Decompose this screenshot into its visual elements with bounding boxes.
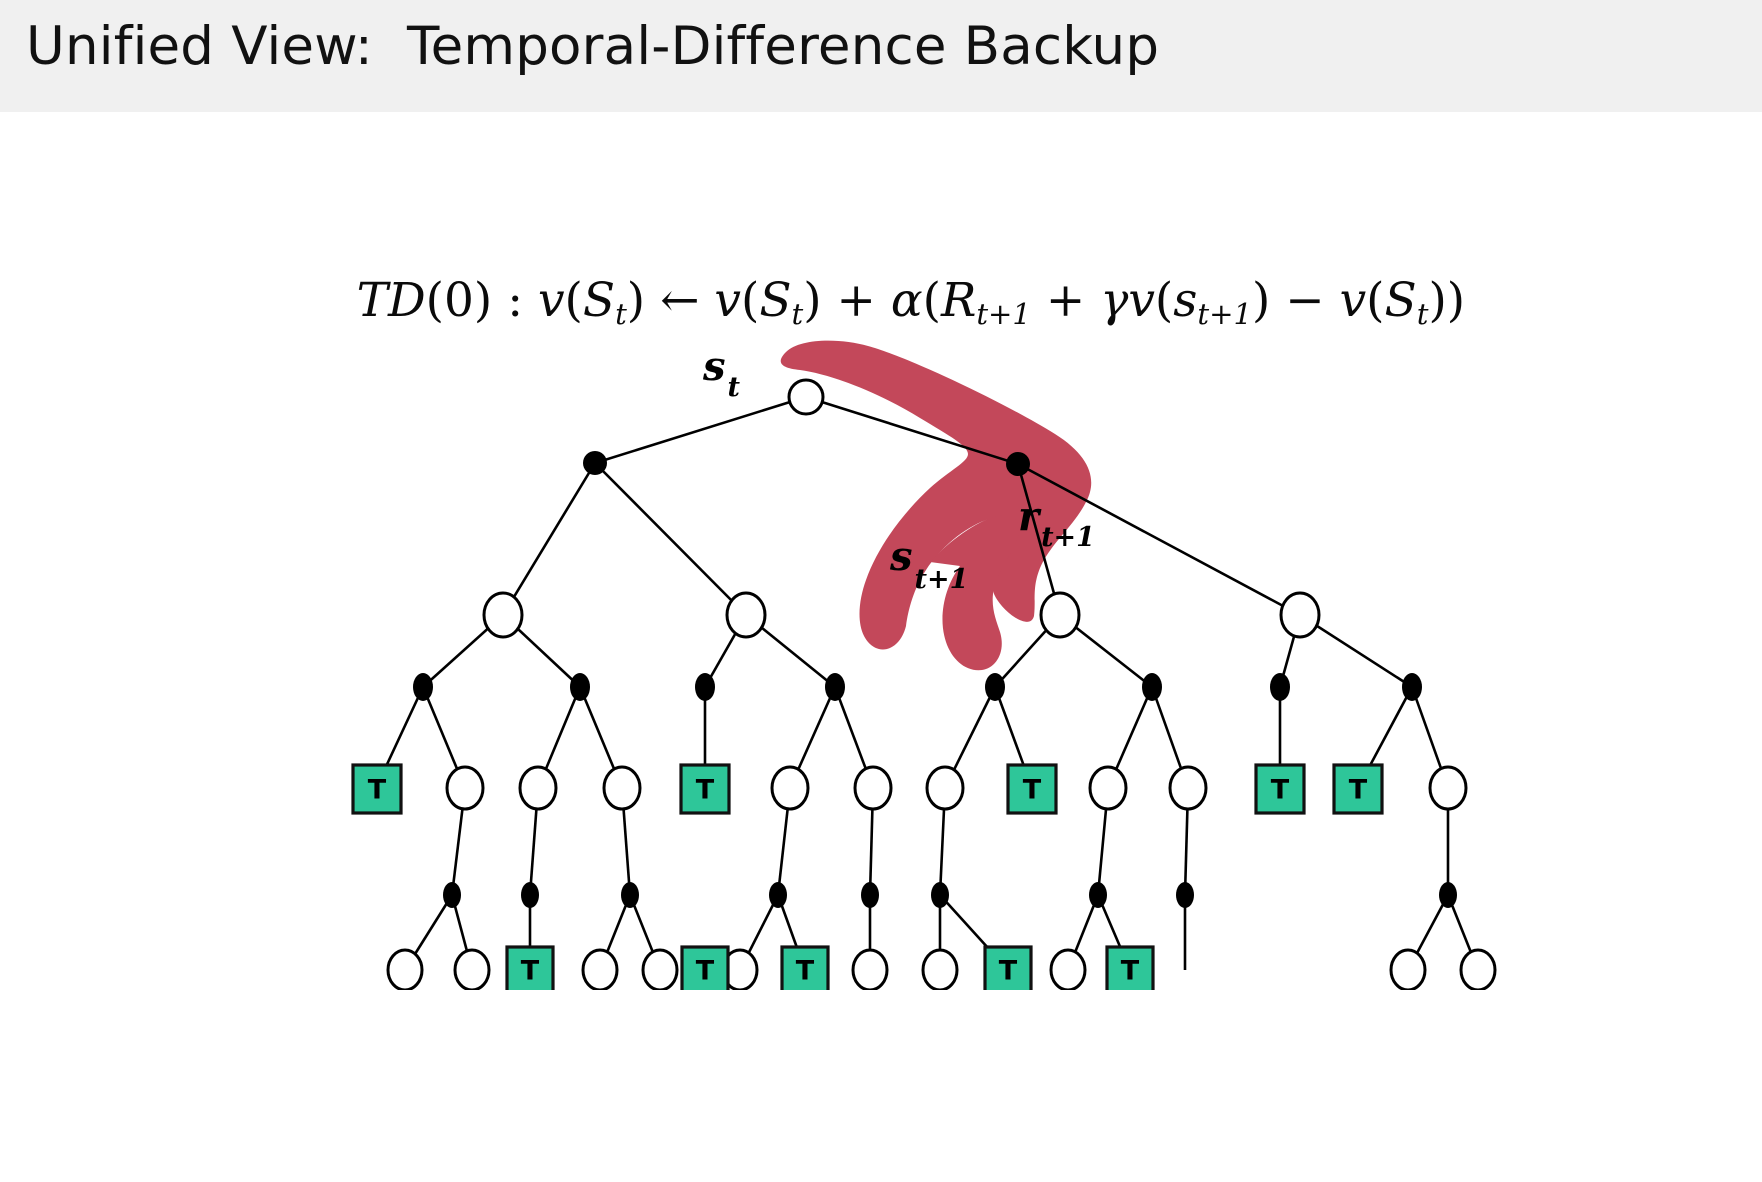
action-node <box>931 882 949 908</box>
action-node <box>413 673 433 701</box>
terminal-label: T <box>696 956 715 987</box>
formula-alpha: α <box>891 273 923 328</box>
state-node <box>388 950 422 990</box>
state-node <box>455 950 489 990</box>
terminal-node: T <box>681 765 729 813</box>
formula-paren3: ( <box>923 273 941 328</box>
formula-open-zero: (0) : <box>426 273 538 328</box>
formula-v1: v <box>538 273 565 328</box>
formula-sub-t4: t+1 <box>1197 297 1252 331</box>
formula-paren4: ( <box>1155 273 1173 328</box>
formula-arrow: ) ← <box>627 273 715 328</box>
formula-gamma: γ <box>1100 273 1128 328</box>
terminal-label: T <box>1349 775 1368 806</box>
backup-diagram: T T T T T T T <box>0 330 1762 990</box>
formula-v2: v <box>714 273 741 328</box>
terminal-node: T <box>1334 765 1382 813</box>
state-node <box>1090 767 1126 809</box>
terminal-label: T <box>999 956 1018 987</box>
formula-v4: v <box>1340 273 1367 328</box>
state-node <box>855 767 891 809</box>
formula-s-next: s <box>1173 273 1197 328</box>
action-node <box>695 673 715 701</box>
action-node <box>1089 882 1107 908</box>
terminal-label: T <box>796 956 815 987</box>
terminal-label: T <box>1271 775 1290 806</box>
action-node <box>825 673 845 701</box>
formula-plus2: + <box>1031 273 1100 328</box>
action-node <box>1142 673 1162 701</box>
formula-v3: v <box>1128 273 1155 328</box>
state-node <box>447 767 483 809</box>
page-title: Unified View: Temporal-Difference Backup <box>26 16 1159 77</box>
state-node <box>772 767 808 809</box>
state-node <box>1170 767 1206 809</box>
formula-td: TD <box>357 273 426 328</box>
state-node <box>1430 767 1466 809</box>
formula-minus: ) − <box>1252 273 1340 328</box>
terminal-node: T <box>985 947 1031 990</box>
state-node <box>1281 593 1319 637</box>
formula-plus1: ) + <box>803 273 891 328</box>
formula-close: )) <box>1428 273 1465 328</box>
terminal-label: T <box>696 775 715 806</box>
terminal-node: T <box>507 947 553 990</box>
formula-S1: S <box>583 273 615 328</box>
state-node <box>1051 950 1085 990</box>
action-node <box>1176 882 1194 908</box>
state-node <box>1461 950 1495 990</box>
state-node <box>583 950 617 990</box>
formula-S3: S <box>1385 273 1417 328</box>
tree-edges <box>376 397 1478 970</box>
terminal-label: T <box>1023 775 1042 806</box>
state-node <box>484 593 522 637</box>
formula-sub-t2: t <box>792 297 804 331</box>
state-node <box>927 767 963 809</box>
formula-S2: S <box>759 273 791 328</box>
state-node <box>853 950 887 990</box>
terminal-node: T <box>682 947 728 990</box>
action-node <box>985 673 1005 701</box>
state-node <box>727 593 765 637</box>
state-node <box>604 767 640 809</box>
state-node <box>1391 950 1425 990</box>
formula-paren1: ( <box>565 273 583 328</box>
terminal-label: T <box>1121 956 1140 987</box>
action-node <box>861 882 879 908</box>
formula-paren2: ( <box>741 273 759 328</box>
state-node <box>923 950 957 990</box>
action-node <box>1402 673 1422 701</box>
action-node <box>570 673 590 701</box>
action-node <box>521 882 539 908</box>
terminal-node: T <box>1008 765 1056 813</box>
formula-sub-t3: t+1 <box>976 297 1031 331</box>
state-node <box>520 767 556 809</box>
formula-sub-t1: t <box>615 297 627 331</box>
formula-R: R <box>941 273 976 328</box>
action-node <box>769 882 787 908</box>
state-node <box>643 950 677 990</box>
state-node-root <box>789 380 823 414</box>
terminal-node: T <box>1256 765 1304 813</box>
terminal-label: T <box>368 775 387 806</box>
action-node <box>1270 673 1290 701</box>
label-s-t: st <box>702 343 741 403</box>
slide-page: Unified View: Temporal-Difference Backup… <box>0 0 1762 1182</box>
action-node-selected <box>1006 452 1030 476</box>
formula-sub-t5: t <box>1417 297 1429 331</box>
action-node <box>583 451 607 475</box>
action-node <box>1439 882 1457 908</box>
terminal-label: T <box>521 956 540 987</box>
action-node <box>621 882 639 908</box>
action-node <box>443 882 461 908</box>
terminal-node: T <box>353 765 401 813</box>
state-node-next <box>1041 593 1079 637</box>
formula-paren5: ( <box>1366 273 1384 328</box>
terminal-node: T <box>782 947 828 990</box>
terminal-node: T <box>1107 947 1153 990</box>
